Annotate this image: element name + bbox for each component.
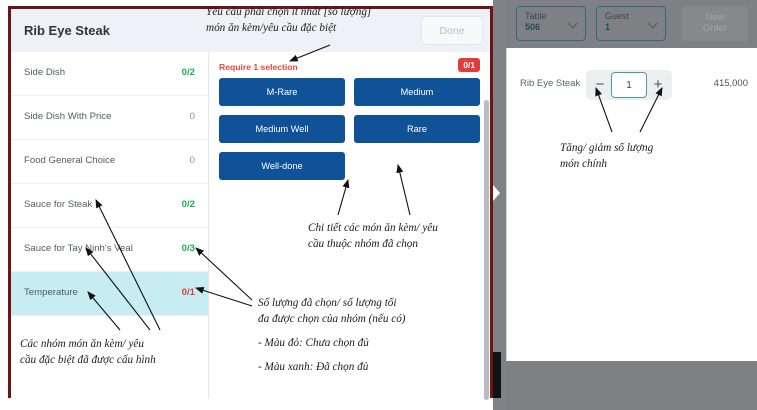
splitter-handle-icon[interactable] bbox=[493, 185, 500, 201]
quantity-input[interactable]: 1 bbox=[611, 72, 647, 98]
order-item-row[interactable]: Rib Eye Steak − 1 + 415,000 bbox=[508, 66, 757, 106]
modifier-group-row[interactable]: Temperature0/1 bbox=[11, 272, 208, 316]
modifier-group-name: Food General Choice bbox=[24, 155, 115, 166]
modifier-group-count: 0/1 bbox=[182, 287, 195, 298]
annotation-groups-note: Các nhóm món ăn kèm/ yêu cầu đặc biệt đã… bbox=[20, 336, 200, 368]
requirement-badge: 0/1 bbox=[458, 58, 480, 72]
decrease-quantity-button[interactable]: − bbox=[588, 70, 612, 100]
new-order-line2: Order bbox=[682, 23, 748, 34]
modifier-group-row[interactable]: Side Dish With Price0 bbox=[11, 96, 208, 140]
pos-panel: Table 506 Guest 1 New Order Rib Eye Stea… bbox=[506, 0, 757, 410]
annotation-quantity-note: Tăng/ giảm số lượng món chính bbox=[560, 140, 735, 172]
order-item-price: 415,000 bbox=[693, 78, 748, 89]
modifier-group-row[interactable]: Sauce for Tay Ninh's Veal0/3 bbox=[11, 228, 208, 272]
page-title: Rib Eye Steak bbox=[24, 23, 110, 38]
modifier-group-row[interactable]: Sauce for Steak0/2 bbox=[11, 184, 208, 228]
option-button[interactable]: Rare bbox=[354, 115, 480, 143]
option-button[interactable]: M-Rare bbox=[219, 78, 345, 106]
modifier-group-count: 0/3 bbox=[182, 243, 195, 254]
table-selector[interactable]: Table 506 bbox=[516, 6, 586, 41]
option-button[interactable]: Medium Well bbox=[219, 115, 345, 143]
modifier-group-count: 0/2 bbox=[182, 67, 195, 78]
option-button[interactable]: Medium bbox=[354, 78, 480, 106]
panel-splitter[interactable] bbox=[493, 0, 506, 410]
annotation-detail-note: Chi tiết các món ăn kèm/ yêu cầu thuộc n… bbox=[308, 220, 488, 252]
modifier-group-name: Sauce for Tay Ninh's Veal bbox=[24, 243, 133, 254]
guest-selector[interactable]: Guest 1 bbox=[596, 6, 666, 41]
new-order-line1: New bbox=[682, 12, 748, 23]
modifier-group-name: Sauce for Steak bbox=[24, 199, 92, 210]
pos-topbar: Table 506 Guest 1 New Order bbox=[506, 0, 757, 48]
chevron-down-icon bbox=[569, 20, 578, 29]
pos-footer bbox=[506, 361, 757, 410]
modifier-group-count: 0 bbox=[190, 155, 195, 166]
order-list: Rib Eye Steak − 1 + 415,000 bbox=[506, 48, 757, 361]
annotation-count-note: Số lượng đã chọn/ số lượng tối đa được c… bbox=[258, 295, 473, 375]
modifier-group-count: 0 bbox=[190, 111, 195, 122]
modifier-group-name: Side Dish bbox=[24, 67, 65, 78]
order-item-name: Rib Eye Steak bbox=[520, 78, 580, 89]
modifier-group-row[interactable]: Food General Choice0 bbox=[11, 140, 208, 184]
modifier-group-name: Temperature bbox=[24, 287, 78, 298]
annotation-require-note: Yêu cầu phải chọn ít nhất [số lượng] món… bbox=[206, 4, 436, 36]
option-button[interactable]: Well-done bbox=[219, 152, 345, 180]
modifier-group-row[interactable]: Side Dish0/2 bbox=[11, 52, 208, 96]
screen: Table 506 Guest 1 New Order Rib Eye Stea… bbox=[0, 0, 757, 410]
modifier-group-count: 0/2 bbox=[182, 199, 195, 210]
new-order-button[interactable]: New Order bbox=[682, 6, 748, 41]
increase-quantity-button[interactable]: + bbox=[646, 70, 670, 100]
requirement-label: Require 1 selection bbox=[219, 62, 298, 72]
chevron-down-icon bbox=[649, 20, 658, 29]
quantity-stepper: − 1 + bbox=[586, 70, 672, 100]
modifier-group-name: Side Dish With Price bbox=[24, 111, 111, 122]
